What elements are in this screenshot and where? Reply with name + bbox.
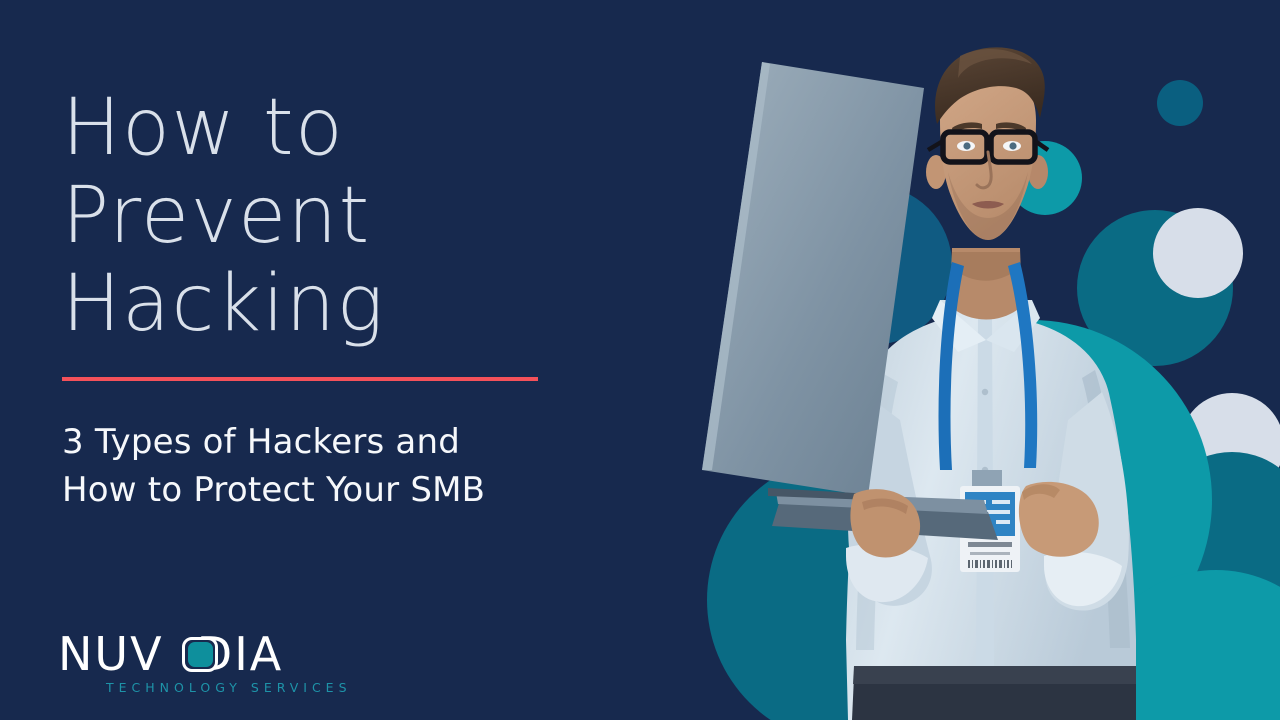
title-divider [62, 377, 538, 381]
belt [853, 666, 1136, 684]
person-with-laptop-illustration [640, 0, 1280, 720]
page-title: How to Prevent Hacking [62, 84, 622, 348]
headline-block: How to Prevent Hacking [62, 84, 622, 348]
head-and-neck [926, 47, 1048, 319]
logo-wordmark-text: NUV DIA [58, 632, 283, 676]
iris-right [1009, 142, 1016, 149]
lanyard-clip [972, 470, 1002, 486]
logo-tagline: TECHNOLOGY SERVICES [106, 680, 352, 695]
nuvodia-logo: NUV DIA TECHNOLOGY SERVICES [58, 632, 358, 698]
page-subtitle: 3 Types of Hackers and How to Protect Yo… [62, 418, 622, 514]
shirt-button-1 [982, 389, 988, 395]
logo-wordmark: NUV DIA [58, 632, 350, 676]
iris-left [963, 142, 970, 149]
title-slide: How to Prevent Hacking 3 Types of Hacker… [0, 0, 1280, 720]
logo-o-accent-icon [188, 642, 213, 667]
